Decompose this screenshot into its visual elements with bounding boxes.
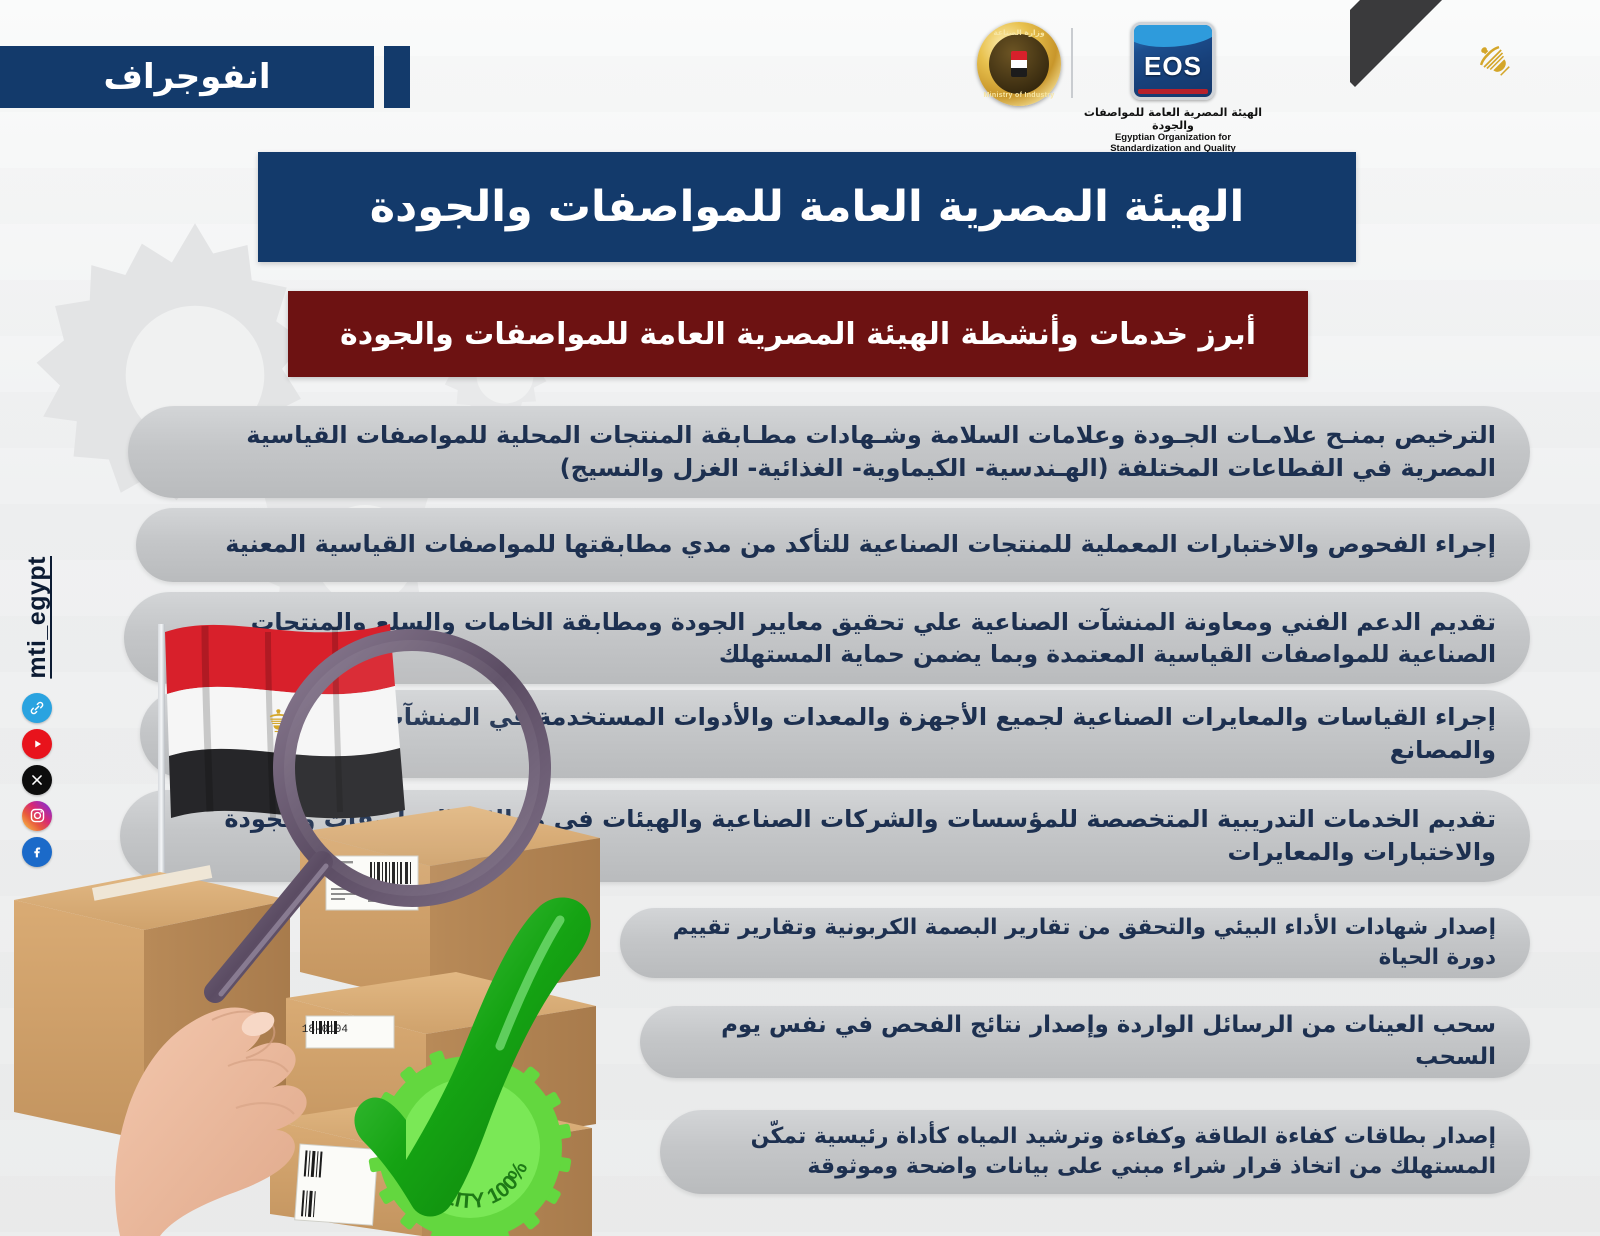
list-item: تقديم الدعم الفني ومعاونة المنشآت الصناع… <box>124 592 1530 684</box>
list-item-text: إصدار بطاقات كفاءة الطاقة وكفاءة وترشيد … <box>660 1122 1530 1183</box>
list-item: إجراء القياسات والمعايرات الصناعية لجميع… <box>140 690 1530 778</box>
list-item: إصدار شهادات الأداء البيئي والتحقق من تق… <box>620 908 1530 978</box>
cardboard-box-front <box>270 1094 592 1236</box>
svg-text:18-0104: 18-0104 <box>302 1024 349 1036</box>
svg-text:100% QUALITY: 100% QUALITY <box>408 1158 533 1213</box>
social-handle: mti_egypt <box>23 556 51 679</box>
ministry-seal-inner <box>989 34 1049 94</box>
ministry-flag-chip-icon <box>1011 51 1027 77</box>
facebook-icon[interactable] <box>22 837 52 867</box>
list-item: تقديم الخدمات التدريبية المتخصصة للمؤسسا… <box>120 790 1530 882</box>
ministry-english-name: Ministry of Industry <box>977 92 1061 99</box>
ministry-arabic-name: وزارة الصناعة <box>977 28 1061 37</box>
flag-stripe-white <box>1350 0 1600 47</box>
instagram-icon[interactable] <box>22 801 52 831</box>
page-title: الهيئة المصرية العامة للمواصفات والجودة <box>258 152 1356 262</box>
page-subtitle-text: أبرز خدمات وأنشطة الهيئة المصرية العامة … <box>340 317 1256 352</box>
list-item-text: سحب العينات من الرسائل الواردة وإصدار نت… <box>640 1010 1530 1073</box>
list-item: إجراء الفحوص والاختبارات المعملية للمنتج… <box>136 508 1530 582</box>
page-subtitle: أبرز خدمات وأنشطة الهيئة المصرية العامة … <box>288 291 1308 377</box>
eagle-of-saladin-icon <box>1463 29 1525 91</box>
list-item: سحب العينات من الرسائل الواردة وإصدار نت… <box>640 1006 1530 1078</box>
list-item: الترخيص بمنـح علامـات الجـودة وعلامات ال… <box>128 406 1530 498</box>
egypt-flag-corner-ribbon <box>1350 0 1600 210</box>
list-item: إصدار بطاقات كفاءة الطاقة وكفاءة وترشيد … <box>660 1110 1530 1194</box>
quality-seal-text: 100% QUALITY <box>408 1158 533 1213</box>
page-title-text: الهيئة المصرية العامة للمواصفات والجودة <box>370 182 1245 232</box>
cardboard-box-left <box>14 865 290 1140</box>
eos-logo: EOS الهيئة المصرية العامة للمواصفات والج… <box>1083 22 1263 154</box>
infographic-page: انفوجراف EOS الهيئة المصرية العامة للموا… <box>0 0 1600 1236</box>
eos-english-name: Egyptian Organization for Standardizatio… <box>1083 132 1263 154</box>
ministry-of-industry-logo: وزارة الصناعة Ministry of Industry <box>977 22 1061 106</box>
logo-group: EOS الهيئة المصرية العامة للمواصفات والج… <box>960 22 1280 142</box>
list-item-text: إجراء القياسات والمعايرات الصناعية لجميع… <box>140 701 1530 767</box>
infograph-tab-accent-block <box>384 46 410 108</box>
quality-seal-badge: 100% QUALITY <box>368 1046 571 1236</box>
infograph-label: انفوجراف <box>104 57 271 97</box>
ministry-seal-icon: وزارة الصناعة Ministry of Industry <box>977 22 1061 106</box>
list-item-text: الترخيص بمنـح علامـات الجـودة وعلامات ال… <box>128 419 1530 485</box>
infograph-tab: انفوجراف <box>0 46 374 108</box>
x-icon[interactable] <box>22 765 52 795</box>
youtube-icon[interactable] <box>22 729 52 759</box>
shipping-label <box>295 1144 378 1225</box>
list-item-text: تقديم الخدمات التدريبية المتخصصة للمؤسسا… <box>120 803 1530 869</box>
logo-divider <box>1071 28 1073 98</box>
eos-badge-icon: EOS <box>1131 22 1215 100</box>
shipping-label: 18-0104 <box>302 1016 394 1048</box>
social-rail: mti_egypt <box>14 556 60 873</box>
list-item-text: تقديم الدعم الفني ومعاونة المنشآت الصناع… <box>124 606 1530 671</box>
hand-holding-magnifier <box>115 1007 307 1236</box>
flag-stripe-red <box>1350 0 1600 7</box>
eos-mark-text: EOS <box>1144 51 1202 82</box>
flag-stripe-black <box>1350 0 1600 87</box>
green-check-mark-icon <box>354 897 590 1216</box>
link-icon[interactable] <box>22 693 52 723</box>
cardboard-box-middle: 18-0104 <box>286 972 596 1152</box>
list-item-text: إصدار شهادات الأداء البيئي والتحقق من تق… <box>620 913 1530 972</box>
eos-arabic-name: الهيئة المصرية العامة للمواصفات والجودة <box>1083 107 1263 132</box>
list-item-text: إجراء الفحوص والاختبارات المعملية للمنتج… <box>136 528 1530 561</box>
